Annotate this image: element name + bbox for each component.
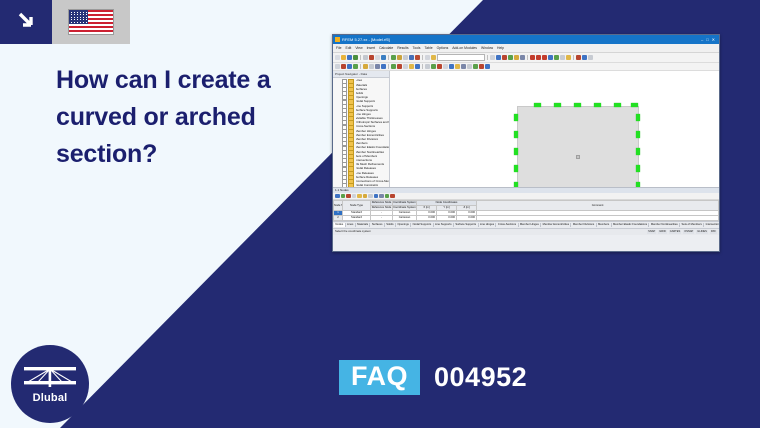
toolbar2-icon-section[interactable] — [415, 64, 420, 69]
nav-item-label: Openings — [356, 96, 368, 99]
faq-number: 004952 — [434, 362, 527, 393]
toolbar2-icon-dimension[interactable] — [425, 64, 430, 69]
nav-item-label: Member Elastic Foundations — [356, 146, 390, 149]
status-indicators[interactable]: SNAP GRID CARTES OSNAP GLINES DXF — [647, 230, 717, 233]
selection-handle[interactable] — [636, 148, 640, 155]
table-icon-export[interactable] — [374, 194, 379, 199]
table-tab-line-supports[interactable]: Line Supports — [434, 223, 454, 226]
toolbar-separator — [527, 55, 528, 60]
toolbar2-icon-trim[interactable] — [467, 64, 472, 69]
menu-item-window[interactable]: Window — [481, 46, 493, 50]
toolbar2-icon-array[interactable] — [369, 64, 374, 69]
close-button[interactable]: ✕ — [712, 37, 715, 42]
toolbar-icon-grid[interactable] — [425, 55, 430, 60]
status-grid[interactable]: GRID — [658, 230, 666, 233]
nav-item-label: Nodal Releases — [356, 167, 376, 170]
selection-handle[interactable] — [514, 148, 518, 155]
navigator-title: Project Navigator - Data — [335, 72, 367, 76]
table-pane: 1.1 Nodes Node — [333, 187, 719, 228]
table-tab-openings[interactable]: Openings — [396, 223, 411, 226]
selection-handle[interactable] — [574, 103, 581, 107]
menu-item-results[interactable]: Results — [397, 46, 408, 50]
toolbar-icon-results[interactable] — [554, 55, 559, 60]
workspace: Project Navigator - Data Lines Materials… — [333, 71, 719, 187]
app-icon — [335, 37, 340, 42]
selection-handle[interactable] — [514, 165, 518, 172]
toolbar-icon-copy[interactable] — [369, 55, 374, 60]
selected-surface[interactable] — [517, 106, 639, 187]
model-canvas[interactable] — [390, 71, 719, 187]
toolbar-combo-loadcase[interactable] — [437, 54, 485, 61]
table-icon-new-row[interactable] — [335, 194, 340, 199]
table-tab-member-nonlinearities[interactable]: Member Nonlinearities — [649, 223, 680, 226]
toolbar-separator — [487, 55, 488, 60]
navigator-header: Project Navigator - Data — [333, 71, 389, 78]
minimize-button[interactable]: – — [701, 37, 703, 42]
toolbar2-icon-mesh[interactable] — [391, 64, 396, 69]
selection-handle[interactable] — [636, 165, 640, 172]
table-tab-sets-of-members[interactable]: Sets of Members — [680, 223, 704, 226]
nav-item-label: Member Divisions — [356, 138, 379, 141]
selection-handle[interactable] — [636, 182, 640, 187]
table-tab-lines[interactable]: Lines — [346, 223, 356, 226]
page-title: How can I create a curved or arched sect… — [56, 62, 326, 173]
toolbar-icon-view-iso[interactable] — [415, 55, 420, 60]
menu-item-table[interactable]: Table — [424, 46, 432, 50]
faq-label: FAQ — [339, 360, 420, 395]
table-tab-member-divisions[interactable]: Member Divisions — [571, 223, 596, 226]
toolbar-icon-member[interactable] — [502, 55, 507, 60]
toolbar-icon-support[interactable] — [520, 55, 525, 60]
selection-handle[interactable] — [554, 103, 561, 107]
toolbar2-icon-align[interactable] — [449, 64, 454, 69]
toolbar2-icon-scale[interactable] — [455, 64, 460, 69]
nav-item-label: Surfaces — [356, 88, 367, 91]
window-controls[interactable]: – □ ✕ — [701, 37, 717, 42]
toolbar-icon-open[interactable] — [341, 55, 346, 60]
table-body[interactable]: Node No. Node Type Reference Node Coordi… — [333, 200, 719, 221]
table-icon-filter[interactable] — [357, 194, 362, 199]
status-glines[interactable]: GLINES — [696, 230, 708, 233]
table-toolbar[interactable] — [333, 193, 719, 200]
toolbar-separator — [388, 55, 389, 60]
toolbar-icon-pan[interactable] — [403, 55, 408, 60]
toolbar-icon-more[interactable] — [588, 55, 593, 60]
menu-item-insert[interactable]: Insert — [367, 46, 375, 50]
window-title: RFEM 5.27.xx - [Model.rf5] — [342, 37, 390, 42]
nav-item-label: Sets of Members — [356, 155, 378, 158]
nav-item-label: Member Nonlinearities — [356, 151, 385, 154]
toolbar-icon-printout[interactable] — [560, 55, 565, 60]
status-snap[interactable]: SNAP — [647, 230, 656, 233]
toolbar2-icon-check[interactable] — [397, 64, 402, 69]
nav-item-label: Intersections — [356, 159, 372, 162]
nav-item-label: Line Hinges — [356, 113, 371, 116]
toolbar-icon-load-surface[interactable] — [542, 55, 547, 60]
dlubal-logo: Dlubal — [11, 345, 89, 423]
table-tab-member-hinges[interactable]: Member Hinges — [519, 223, 542, 226]
table-tab-nodes[interactable]: Nodes — [334, 223, 346, 226]
toolbar-separator — [573, 55, 574, 60]
status-osnap[interactable]: OSNAP — [683, 230, 694, 233]
table-tab-members[interactable]: Members — [597, 223, 612, 226]
truss-icon — [22, 364, 78, 390]
main-toolbar-row1[interactable] — [333, 53, 719, 63]
toolbar2-icon-fillet[interactable] — [473, 64, 478, 69]
table-tab-solids[interactable]: Solids — [385, 223, 396, 226]
selection-handle[interactable] — [514, 131, 518, 138]
toolbar-separator — [422, 64, 423, 69]
toolbar-icon-surface[interactable] — [508, 55, 513, 60]
toolbar-icon-help[interactable] — [576, 55, 581, 60]
menu-item-calculate[interactable]: Calculate — [379, 46, 393, 50]
toolbar2-icon-rotate[interactable] — [347, 64, 352, 69]
nav-item-label: Surface Supports — [356, 109, 378, 112]
nav-item-label: Cross-Sections — [356, 125, 376, 128]
toolbar-separator — [360, 55, 361, 60]
status-dxf[interactable]: DXF — [710, 230, 717, 233]
project-navigator[interactable]: Project Navigator - Data Lines Materials… — [333, 71, 390, 187]
table-icon-delete-row[interactable] — [346, 194, 351, 199]
th-comment: Comment — [477, 201, 719, 211]
table-icon-insert-row[interactable] — [341, 194, 346, 199]
window-titlebar: RFEM 5.27.xx - [Model.rf5] – □ ✕ — [333, 35, 719, 44]
toolbar-icon-undo[interactable] — [381, 55, 386, 60]
table-tab-intersections[interactable]: Intersections — [704, 223, 719, 226]
main-toolbar-row2[interactable] — [333, 63, 719, 71]
selection-handle[interactable] — [636, 131, 640, 138]
toolbar-icon-info[interactable] — [582, 55, 587, 60]
table-tab-cross-sections[interactable]: Cross-Sections — [496, 223, 518, 226]
nav-item-label: FE Mesh Refinements — [356, 163, 385, 166]
nav-item-label: Members — [356, 142, 368, 145]
status-message: Select the coordinate system — [335, 230, 371, 233]
nav-item-label: Nodal Constraints — [356, 184, 379, 187]
table-tabs[interactable]: Nodes Lines Materials Surfaces Solids Op… — [333, 221, 719, 228]
toolbar-icon-snap[interactable] — [431, 55, 436, 60]
menu-item-edit[interactable]: Edit — [345, 46, 351, 50]
menu-item-addon-modules[interactable]: Add-on Modules — [452, 46, 477, 50]
toolbar-separator — [388, 64, 389, 69]
toolbar-icon-cut[interactable] — [363, 55, 368, 60]
toolbar2-icon-properties[interactable] — [485, 64, 490, 69]
surface-center-node[interactable] — [576, 155, 580, 159]
slide-stage: How can I create a curved or arched sect… — [0, 0, 760, 428]
toolbar-icon-line[interactable] — [496, 55, 501, 60]
toolbar2-icon-divide[interactable] — [375, 64, 380, 69]
toolbar2-icon-mirror[interactable] — [353, 64, 358, 69]
toolbar-icon-calculate[interactable] — [548, 55, 553, 60]
table-title: 1.1 Nodes — [335, 189, 349, 192]
table-icon-settings[interactable] — [379, 194, 384, 199]
selection-handle[interactable] — [534, 103, 541, 107]
toolbar-separator — [422, 55, 423, 60]
toolbar-icon-load[interactable] — [530, 55, 535, 60]
menu-item-help[interactable]: Help — [497, 46, 504, 50]
toolbar2-icon-move[interactable] — [341, 64, 346, 69]
status-bar: Select the coordinate system SNAP GRID C… — [333, 228, 719, 235]
nav-item-label: Member Hinges — [356, 130, 376, 133]
table-icon-highlight[interactable] — [363, 194, 368, 199]
table-tab-materials[interactable]: Materials — [356, 223, 371, 226]
selection-handle[interactable] — [614, 103, 621, 107]
flag-canton — [69, 10, 88, 24]
toolbar-icon-load-line[interactable] — [536, 55, 541, 60]
selection-handle[interactable] — [631, 103, 638, 107]
table-tab-line-hinges[interactable]: Line Hinges — [479, 223, 497, 226]
arrow-down-right-icon — [0, 0, 52, 44]
selection-handle[interactable] — [594, 103, 601, 107]
toolbar-icon-zoom-out[interactable] — [397, 55, 402, 60]
nav-item-label: Orthotropic Surfaces and Members — [356, 121, 390, 124]
nav-item-label: Line Supports — [356, 105, 374, 108]
table-tab-surface-supports[interactable]: Surface Supports — [454, 223, 479, 226]
toolbar2-icon-visibility[interactable] — [409, 64, 414, 69]
nodes-table[interactable]: Node No. Node Type Reference Node Coordi… — [333, 200, 719, 221]
nav-item-label: Line Releases — [356, 172, 374, 175]
toolbar-icon-save[interactable] — [347, 55, 352, 60]
menu-item-tools[interactable]: Tools — [413, 46, 421, 50]
nav-item-label: Materials — [356, 84, 368, 87]
toolbar-separator — [360, 64, 361, 69]
maximize-button[interactable]: □ — [706, 37, 708, 42]
corner-badges — [0, 0, 130, 44]
toolbar2-icon-group[interactable] — [443, 64, 448, 69]
table-icon-calc[interactable] — [385, 194, 390, 199]
toolbar-icon-node[interactable] — [490, 55, 495, 60]
selection-handle[interactable] — [636, 114, 640, 121]
navigator-tree[interactable]: Lines Materials Surfaces Solids Openings… — [333, 78, 389, 187]
toolbar2-icon-annotate[interactable] — [431, 64, 436, 69]
toolbar-icon-render[interactable] — [409, 55, 414, 60]
table-icon-sort[interactable] — [368, 194, 373, 199]
selection-handle[interactable] — [514, 182, 518, 187]
toolbar2-icon-offset[interactable] — [461, 64, 466, 69]
toolbar2-icon-delete[interactable] — [437, 64, 442, 69]
th-node-no: Node No. — [334, 201, 343, 211]
faq-badge: FAQ 004952 — [339, 360, 527, 395]
brand-name: Dlubal — [33, 392, 68, 404]
th-node-type: Node Type — [343, 201, 371, 211]
nav-item-label: Surface Releases — [356, 176, 379, 179]
toolbar-icon-zoom-in[interactable] — [391, 55, 396, 60]
toolbar-icon-solid[interactable] — [514, 55, 519, 60]
toolbar2-icon-select[interactable] — [335, 64, 340, 69]
toolbar-icon-new[interactable] — [335, 55, 340, 60]
menu-item-options[interactable]: Options — [437, 46, 449, 50]
toolbar2-icon-explode[interactable] — [479, 64, 484, 69]
table-tab-surfaces[interactable]: Surfaces — [370, 223, 384, 226]
toolbar2-icon-connect[interactable] — [381, 64, 386, 69]
nav-item-label: Variable Thicknesses — [356, 117, 383, 120]
table-tab-member-elastic-foundations[interactable]: Member Elastic Foundations — [612, 223, 650, 226]
nav-item-label: Solids — [356, 92, 364, 95]
status-cartes[interactable]: CARTES — [669, 230, 681, 233]
flag-graphic — [68, 9, 114, 35]
toolbar-icon-print[interactable] — [353, 55, 358, 60]
toolbar2-icon-layers[interactable] — [403, 64, 408, 69]
menu-bar[interactable]: File Edit View Insert Calculate Results … — [333, 44, 719, 53]
table-icon-help[interactable] — [390, 194, 395, 199]
nav-item-label: Nodal Supports — [356, 100, 376, 103]
table-icon-copy[interactable] — [352, 194, 357, 199]
nav-item-label: Member Eccentricities — [356, 134, 384, 137]
table-tab-nodal-supports[interactable]: Nodal Supports — [411, 223, 433, 226]
nav-item-label: Lines — [356, 79, 363, 82]
usa-flag-icon — [52, 0, 130, 44]
table-tab-member-eccentricities[interactable]: Member Eccentricities — [541, 223, 571, 226]
selection-handle[interactable] — [514, 114, 518, 121]
rfem-application-window: RFEM 5.27.xx - [Model.rf5] – □ ✕ File Ed… — [332, 34, 720, 252]
menu-item-file[interactable]: File — [336, 46, 341, 50]
nav-item-label: Connections of Cross-Members — [356, 180, 390, 183]
toolbar-icon-settings[interactable] — [566, 55, 571, 60]
toolbar-icon-paste[interactable] — [375, 55, 380, 60]
menu-item-view[interactable]: View — [355, 46, 362, 50]
toolbar2-icon-extrude[interactable] — [363, 64, 368, 69]
